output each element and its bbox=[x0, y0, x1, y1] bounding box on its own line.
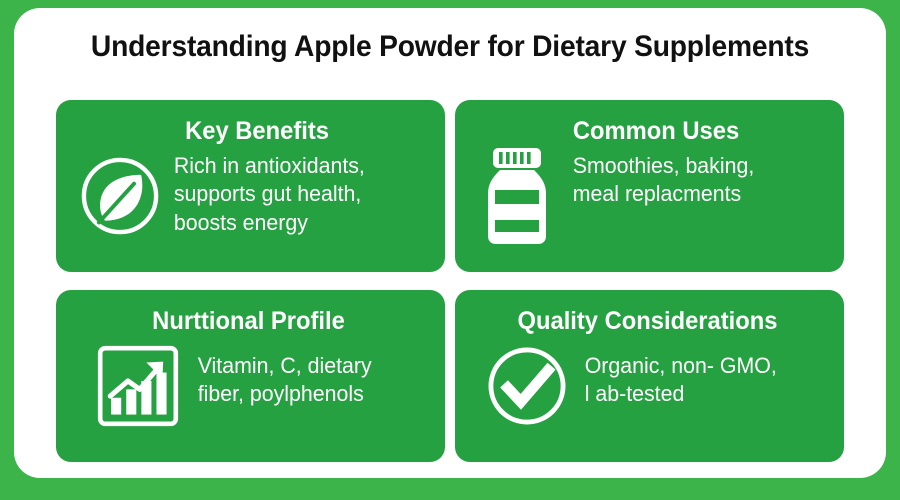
card-text-common-uses: Smoothies, baking, meal replacments bbox=[565, 148, 822, 208]
card-text-quality-considerations: Organic, non- GMO, l ab-tested bbox=[575, 338, 822, 408]
check-in-circle-icon bbox=[479, 338, 575, 434]
bar-chart-growth-icon bbox=[88, 338, 188, 434]
card-body-quality-considerations: Organic, non- GMO, l ab-tested bbox=[465, 338, 830, 434]
card-text-line: Vitamin, C, dietary bbox=[198, 352, 424, 380]
card-text-line: fiber, poylphenols bbox=[198, 380, 424, 408]
card-text-line: l ab-tested bbox=[585, 380, 823, 408]
card-body-common-uses: Smoothies, baking, meal replacments bbox=[465, 148, 830, 244]
card-text-nutritional-profile: Vitamin, C, dietary fiber, poylphenols bbox=[188, 338, 424, 408]
card-text-line: meal replacments bbox=[573, 180, 822, 208]
card-common-uses[interactable]: Common Uses bbox=[455, 100, 844, 272]
card-text-key-benefits: Rich in antioxidants, supports gut healt… bbox=[170, 148, 423, 236]
card-heading-nutritional-profile: Nurttional Profile bbox=[75, 308, 422, 334]
card-heading-key-benefits: Key Benefits bbox=[75, 118, 422, 144]
card-key-benefits[interactable]: Key Benefits Rich in antioxidants, suppo… bbox=[56, 100, 445, 272]
card-heading-common-uses: Common Uses bbox=[474, 118, 821, 144]
card-heading-quality-considerations: Quality Considerations bbox=[474, 308, 821, 334]
leaf-in-circle-icon bbox=[70, 148, 170, 244]
card-text-line: Smoothies, baking, bbox=[573, 152, 822, 180]
card-body-nutritional-profile: Vitamin, C, dietary fiber, poylphenols bbox=[66, 338, 431, 434]
supplement-bottle-icon bbox=[469, 148, 565, 244]
card-body-key-benefits: Rich in antioxidants, supports gut healt… bbox=[66, 148, 431, 244]
content-panel: Understanding Apple Powder for Dietary S… bbox=[14, 8, 886, 478]
card-grid: Key Benefits Rich in antioxidants, suppo… bbox=[56, 100, 844, 462]
card-text-line: supports gut health, bbox=[174, 180, 423, 208]
card-quality-considerations[interactable]: Quality Considerations Organic, non- GMO… bbox=[455, 290, 844, 462]
card-text-line: Organic, non- GMO, bbox=[585, 352, 823, 380]
infographic-root: Understanding Apple Powder for Dietary S… bbox=[0, 0, 900, 500]
card-nutritional-profile[interactable]: Nurttional Profile bbox=[56, 290, 445, 462]
page-title: Understanding Apple Powder for Dietary S… bbox=[40, 30, 860, 64]
card-text-line: Rich in antioxidants, bbox=[174, 152, 423, 180]
card-text-line: boosts energy bbox=[174, 209, 423, 237]
